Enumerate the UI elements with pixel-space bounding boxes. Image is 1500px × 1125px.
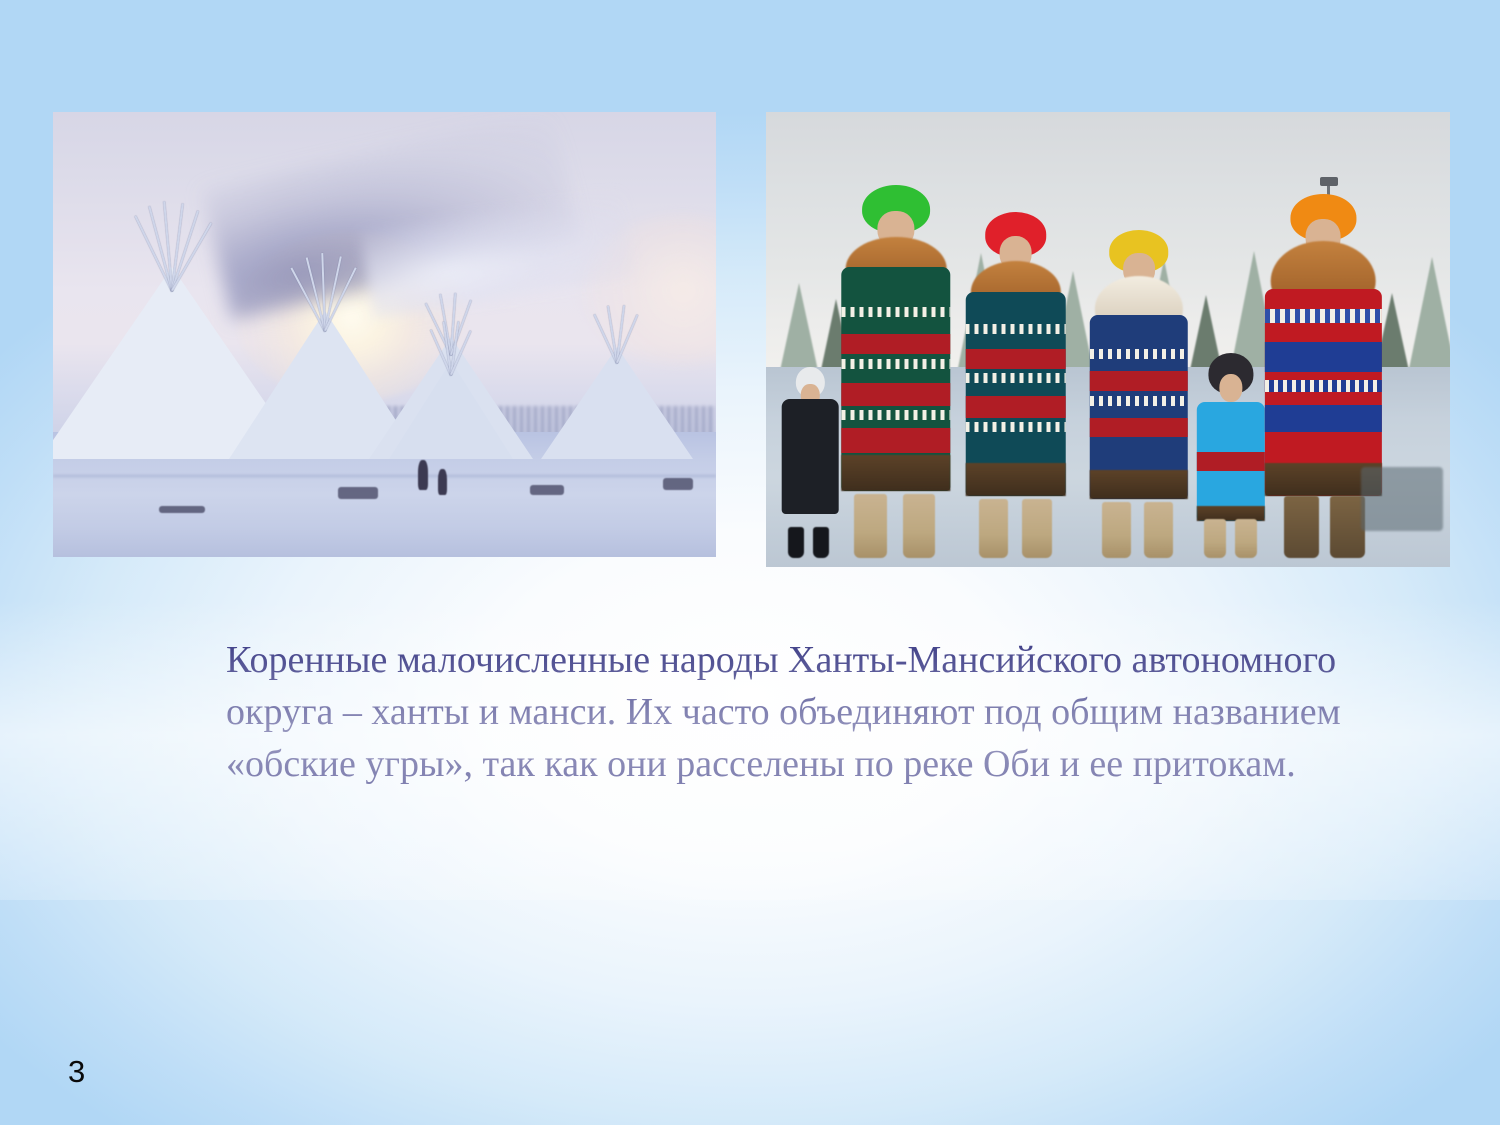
person-bystander [780,367,842,558]
chum-cover [541,347,693,459]
sled [159,506,205,513]
chum-tent [385,317,518,459]
sled [663,478,693,490]
fur-boot [1284,496,1319,558]
fur-boot [854,494,887,557]
coat-blue [1090,315,1188,498]
slide-body-text: Коренные малочисленные народы Ханты-Манс… [226,634,1418,790]
fur-boot [1204,519,1226,558]
person-child [1197,353,1265,558]
fur-boot [1330,496,1365,558]
traditional-dress-photo-content [766,112,1450,567]
person-yellow-headscarf [1087,230,1190,558]
coat-child-blue [1197,402,1265,521]
person-figure [438,469,447,495]
page-number: 3 [68,1056,85,1087]
traditional-dress-photo [766,112,1450,567]
slide-canvas: Коренные малочисленные народы Ханты-Манс… [0,0,1500,1125]
fur-boot [1022,499,1052,558]
coat-green [841,267,950,491]
fur-boot [1144,502,1173,558]
person-red-headscarf [964,212,1067,558]
chum-poles [589,305,645,363]
chum-poles [426,321,476,375]
fur-boot [1102,502,1131,558]
face [1219,374,1242,403]
person-figure [418,460,428,490]
fur-boot [903,494,936,557]
coat-teal [965,292,1066,496]
fur-boot [979,499,1009,558]
sled [530,485,564,495]
winter-camp-photo-content [53,112,716,557]
chum-tent [537,308,696,459]
coat-red [1265,289,1381,496]
person-green-headscarf [841,185,950,558]
chum-poles [289,253,361,331]
winter-camp-photo [53,112,716,557]
fur-boot [1235,519,1257,558]
chum-poles [132,205,212,291]
sled [338,487,378,499]
chum-cover [389,361,513,459]
sled [1361,467,1443,531]
